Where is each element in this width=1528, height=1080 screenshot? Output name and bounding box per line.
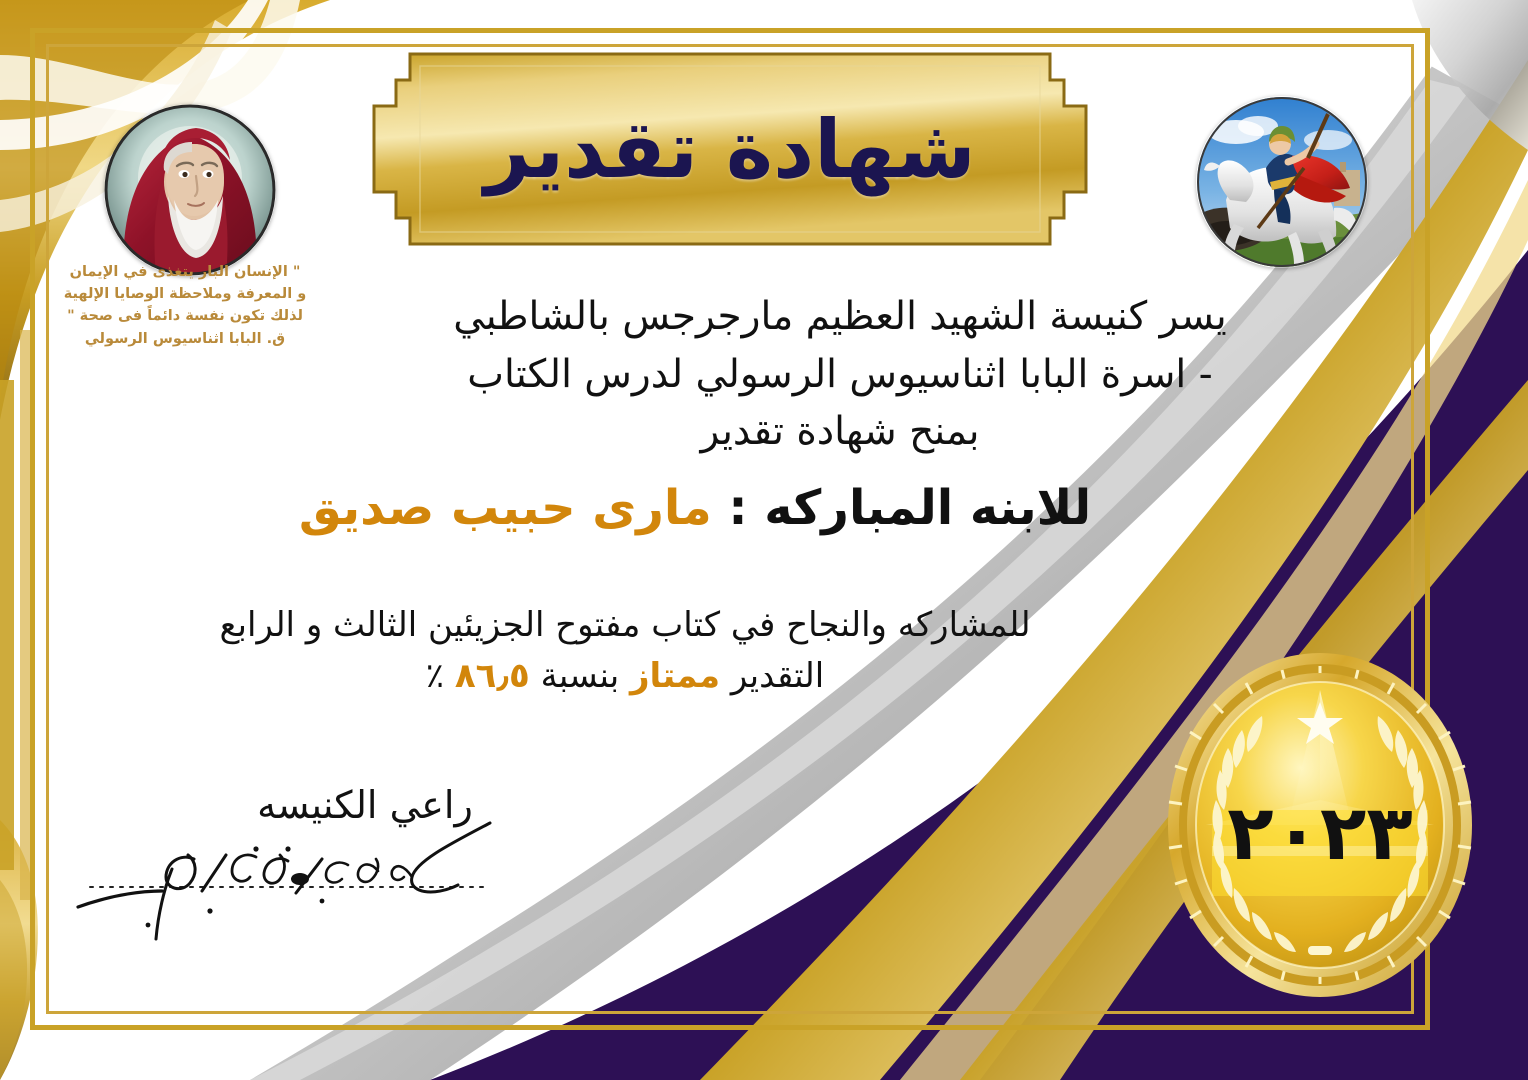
gold-medal-seal: ٢٠٢٣	[1166, 650, 1474, 1000]
saint-athanasius-icon	[104, 104, 276, 276]
grade-value: ممتاز	[630, 656, 720, 696]
body-line-2: - اسرة البابا اثناسيوس الرسولي لدرس الكت…	[300, 346, 1380, 404]
achievement-block: للمشاركه والنجاح في كتاب مفتوح الجزيئين …	[120, 600, 1130, 702]
quote-line-2: و المعرفة وملاحظة الوصايا الإلهية	[60, 284, 310, 306]
certificate-title: شهادة تقدير	[374, 54, 1086, 244]
percent-value: ٨٦٫٥	[455, 656, 530, 696]
achievement-line-1: للمشاركه والنجاح في كتاب مفتوح الجزيئين …	[120, 600, 1130, 651]
quote-author: ق. البابا اثناسيوس الرسولي	[60, 329, 310, 351]
athanasius-quote: " الإنسان البار يتغذى في الإيمان و المعر…	[60, 262, 310, 351]
recipient-prefix: للابنه المباركه :	[728, 480, 1091, 536]
quote-line-3: لذلك تكون نفسة دائماً فى صحة "	[60, 306, 310, 328]
percent-label: بنسبة	[541, 656, 620, 696]
medal-year: ٢٠٢٣	[1166, 788, 1474, 877]
recipient-line: للابنه المباركه : مارى حبيب صديق	[150, 480, 1240, 536]
recipient-name: مارى حبيب صديق	[299, 480, 712, 536]
title-plaque: شهادة تقدير	[374, 54, 1086, 244]
body-line-1: يسر كنيسة الشهيد العظيم مارجرجس بالشاطبي	[300, 288, 1380, 346]
certificate-body: يسر كنيسة الشهيد العظيم مارجرجس بالشاطبي…	[300, 288, 1380, 461]
body-line-3: بمنح شهادة تقدير	[300, 403, 1380, 461]
quote-line-1: " الإنسان البار يتغذى في الإيمان	[60, 262, 310, 284]
certificate-page: شهادة تقدير	[0, 0, 1528, 1080]
signature-mark	[60, 815, 590, 945]
percent-symbol: ٪	[426, 656, 444, 696]
achievement-grade-line: التقدير ممتاز بنسبة ٨٦٫٥ ٪	[120, 651, 1130, 702]
grade-label: التقدير	[731, 656, 824, 696]
saint-george-icon	[1196, 96, 1368, 268]
